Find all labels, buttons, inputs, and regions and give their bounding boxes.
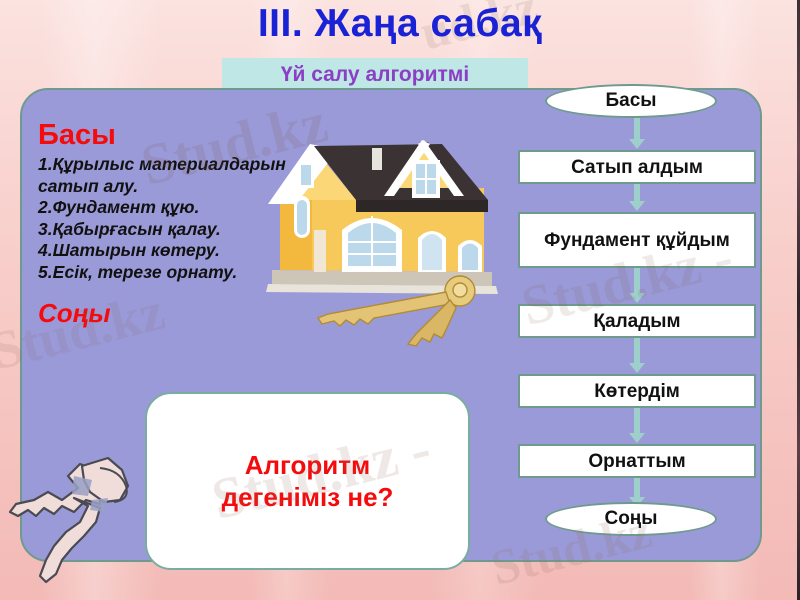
page-title: III. Жаңа сабақ: [0, 0, 800, 50]
flow-arrow: [634, 118, 640, 140]
question-card[interactable]: Алгоритм дегеніміз не?: [145, 392, 470, 570]
flow-arrow: [634, 478, 640, 498]
gold-keys-illustration: [300, 268, 490, 368]
flowchart-node-roof[interactable]: Көтердім: [518, 374, 756, 408]
slide-canvas: ud.kz III. Жаңа сабақ Үй салу алгоритмі …: [0, 0, 800, 600]
flowchart-node-foundation[interactable]: Фундамент құйдым: [518, 212, 756, 268]
flowchart-node-walls[interactable]: Қаладым: [518, 304, 756, 338]
question-text: Алгоритм дегеніміз не?: [222, 449, 394, 513]
flow-arrow: [634, 184, 640, 202]
flowchart-node-end[interactable]: Соңы: [545, 502, 717, 536]
flowchart-node-start[interactable]: Басы: [545, 84, 717, 118]
flow-arrow: [634, 338, 640, 364]
flow-arrow: [634, 268, 640, 294]
subtitle-banner: Үй салу алгоритмі: [222, 58, 528, 92]
flowchart: Басы Сатып алдым Фундамент құйдым Қалады…: [518, 84, 758, 536]
flow-arrow: [634, 408, 640, 434]
key-outline-sketch: [4, 436, 144, 596]
flowchart-node-install[interactable]: Орнаттым: [518, 444, 756, 478]
flowchart-node-bought[interactable]: Сатып алдым: [518, 150, 756, 184]
